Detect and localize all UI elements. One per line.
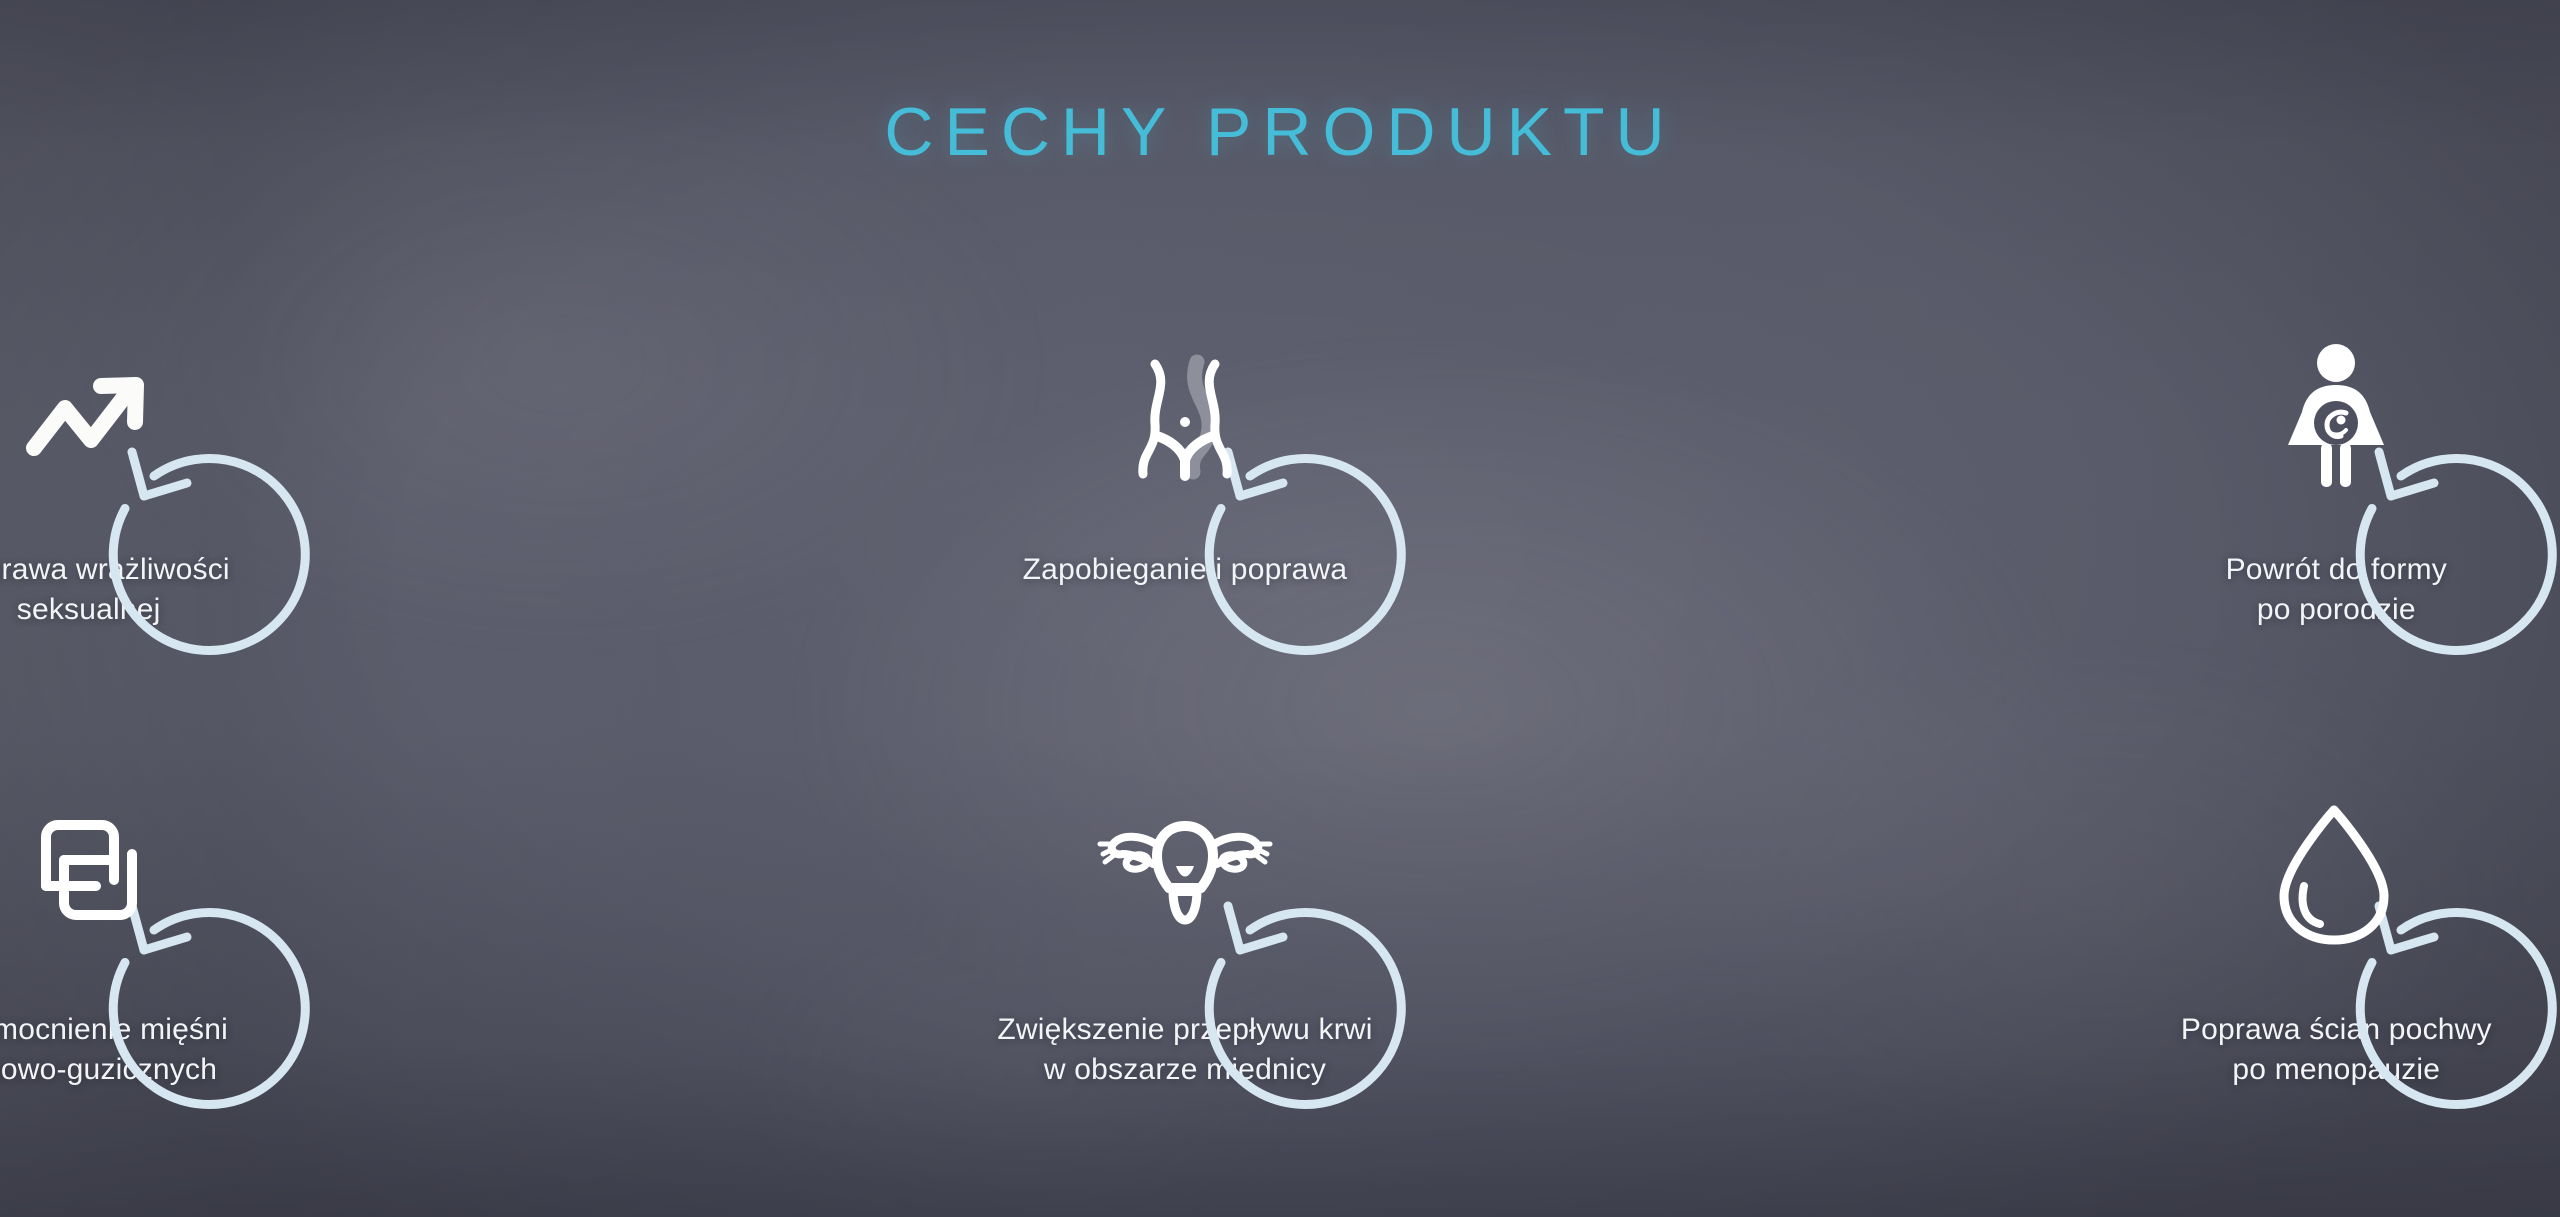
- feature-item-pubococcygeus-strengthening: Wzmocnienie mięśni łonowo-guzicznych: [0, 738, 439, 1176]
- feature-caption: Zapobieganie i poprawa: [1023, 550, 1348, 590]
- pregnant-woman-icon: [2220, 300, 2452, 532]
- feature-caption: Zwiększenie przepływu krwi w obszarze mi…: [997, 1010, 1372, 1089]
- feature-item-improved-sexual-sensitivity: Poprawa wrażliwości seksualnej: [0, 300, 439, 738]
- water-drop-icon: [2220, 754, 2452, 986]
- feature-item-prevention-and-improvement: Zapobieganie i poprawa: [835, 300, 1535, 738]
- female-torso-waist-icon: [1069, 300, 1301, 532]
- feature-item-increased-pelvic-blood-flow: Zwiększenie przepływu krwi w obszarze mi…: [835, 738, 1535, 1176]
- feature-item-postpartum-recovery: Powrót do formy po porodzie: [1986, 300, 2560, 738]
- feature-caption: Powrót do formy po porodzie: [2226, 550, 2447, 629]
- feature-item-vaginal-wall-improvement: Poprawa ścian pochwy po menopauzie: [1986, 738, 2560, 1176]
- product-features-slide: CECHY PRODUKTU Poprawa wrażliwości seksu: [0, 0, 2560, 1217]
- features-grid: Poprawa wrażliwości seksualnej: [0, 300, 2560, 1176]
- feature-caption: Poprawa ścian pochwy po menopauzie: [2181, 1010, 2492, 1089]
- trending-up-arrow-icon: [0, 300, 205, 532]
- page-title: CECHY PRODUKTU: [0, 98, 2560, 166]
- uterus-icon: [1069, 754, 1301, 986]
- interlocking-squares-icon: [0, 754, 205, 986]
